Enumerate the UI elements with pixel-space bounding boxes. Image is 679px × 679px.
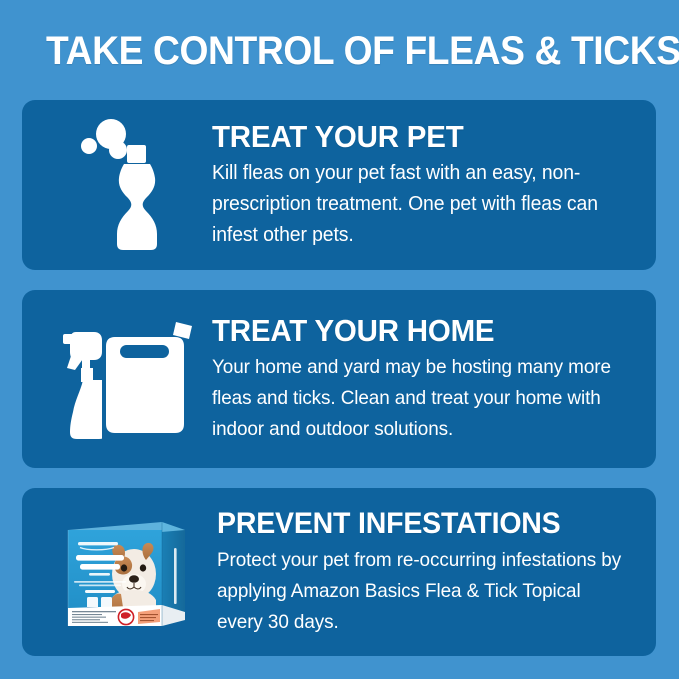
card-description: Your home and yard may be hosting many m…	[212, 352, 629, 445]
card-icon-slot	[54, 488, 204, 656]
card-icon-slot	[54, 100, 204, 270]
promo-poster: TAKE CONTROL OF FLEAS & TICKS TREAT YOUR…	[0, 0, 679, 679]
card-heading: PREVENT INFESTATIONS	[217, 506, 621, 542]
card-icon-slot	[54, 290, 204, 468]
product-side-panel-text	[174, 548, 177, 604]
card-description: Protect your pet from re-occurring infes…	[217, 545, 629, 638]
card-description: Kill fleas on your pet fast with an easy…	[212, 158, 629, 251]
page-title: TAKE CONTROL OF FLEAS & TICKS	[46, 26, 604, 78]
card-text-block: TREAT YOUR PET Kill fleas on your pet fa…	[212, 100, 642, 270]
card-heading: TREAT YOUR HOME	[212, 313, 621, 349]
card-text-block: PREVENT INFESTATIONS Protect your pet fr…	[217, 488, 642, 656]
spray-bottle-and-jug-icon	[63, 316, 195, 442]
feature-card-prevent-infestations: PREVENT INFESTATIONS Protect your pet fr…	[22, 488, 656, 656]
feature-card-treat-your-home: TREAT YOUR HOME Your home and yard may b…	[22, 290, 656, 468]
feature-card-treat-your-pet: TREAT YOUR PET Kill fleas on your pet fa…	[22, 100, 656, 270]
card-heading: TREAT YOUR PET	[212, 119, 621, 155]
card-text-block: TREAT YOUR HOME Your home and yard may b…	[212, 290, 642, 468]
product-box-photo	[54, 508, 204, 636]
product-box-illustration	[54, 508, 204, 636]
shampoo-bottle-icon	[75, 118, 183, 252]
